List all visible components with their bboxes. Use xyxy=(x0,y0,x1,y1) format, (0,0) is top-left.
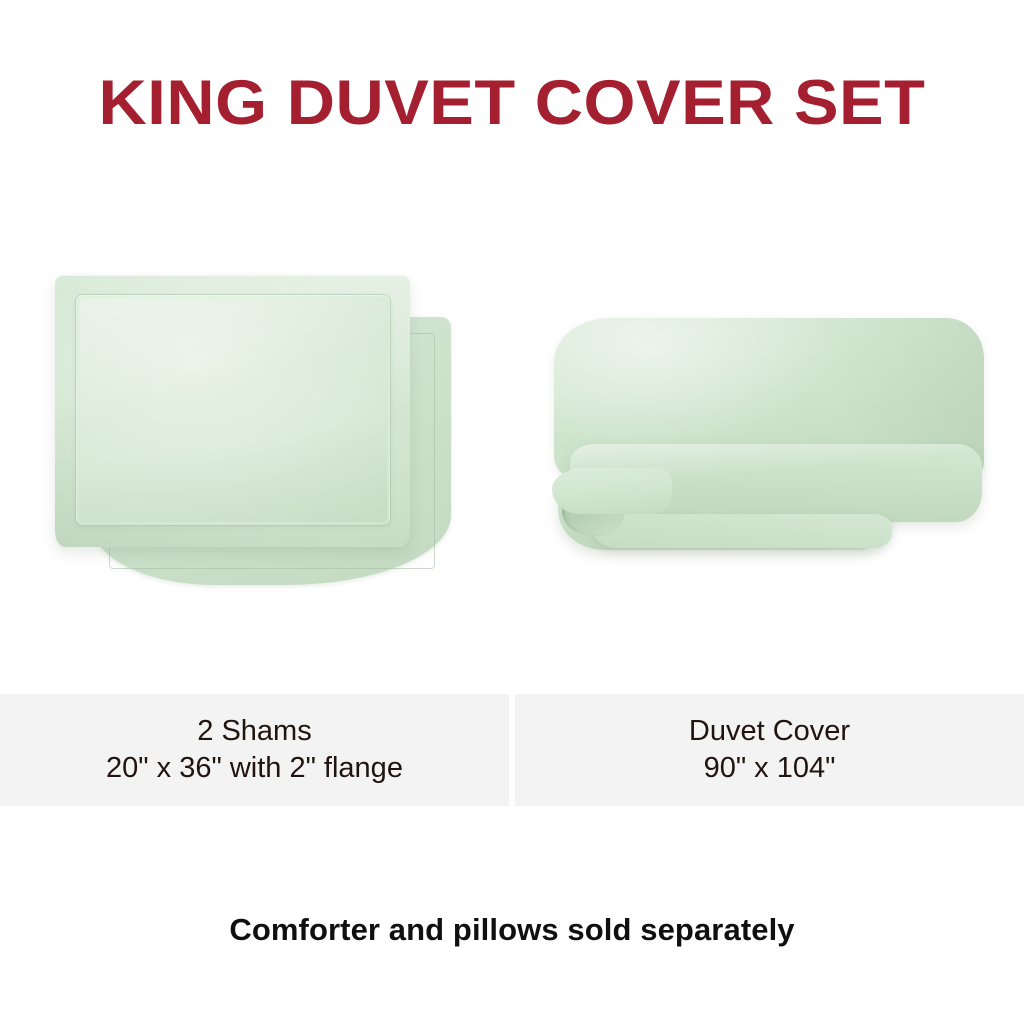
footer-note: Comforter and pillows sold separately xyxy=(0,912,1024,948)
caption-shams-title: 2 Shams xyxy=(197,713,311,750)
caption-duvet-size: 90" x 104" xyxy=(704,750,836,787)
product-image-stage xyxy=(0,190,1024,690)
sham-front-pillow xyxy=(55,275,410,547)
sham-flange-inner-panel xyxy=(76,295,390,525)
duvet-fold-lip xyxy=(552,468,672,514)
duvet-cover-image xyxy=(540,318,990,568)
caption-panels: 2 Shams 20" x 36" with 2" flange Duvet C… xyxy=(0,694,1024,806)
caption-duvet: Duvet Cover 90" x 104" xyxy=(515,694,1024,806)
caption-duvet-title: Duvet Cover xyxy=(689,713,850,750)
caption-shams-size: 20" x 36" with 2" flange xyxy=(106,750,403,787)
duvet-fold-crease xyxy=(592,514,892,548)
caption-shams: 2 Shams 20" x 36" with 2" flange xyxy=(0,694,509,806)
pillow-shams-image xyxy=(55,275,455,595)
page-title: KING DUVET COVER SET xyxy=(0,72,1024,135)
